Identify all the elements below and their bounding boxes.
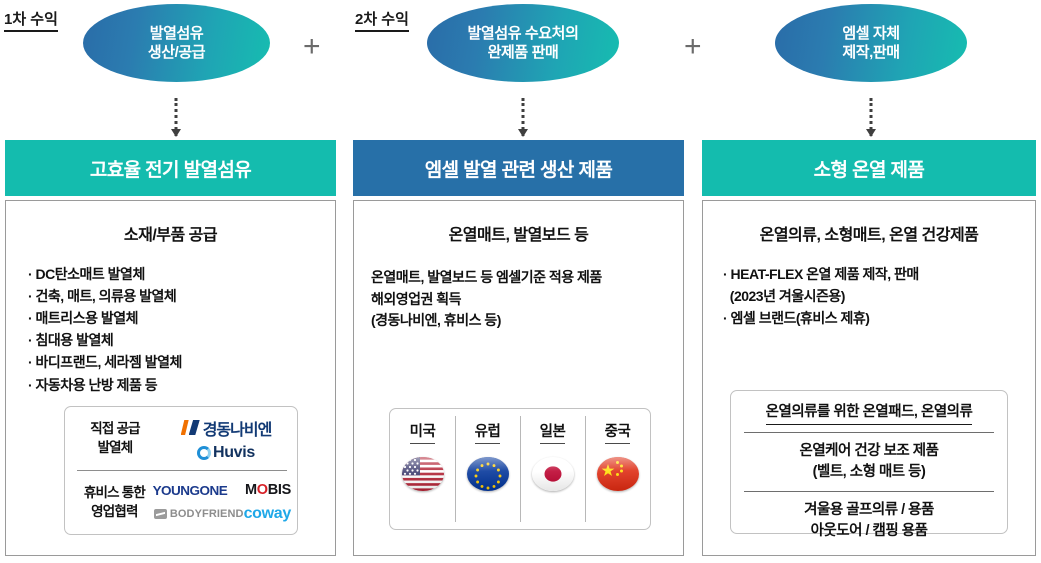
caption-line: 직접 공급 <box>75 420 155 439</box>
kyungdong-navien-mark-icon <box>181 420 200 435</box>
us-flag-icon <box>402 457 444 491</box>
bubble-2-line-1: 발열섬유 수요처의 <box>468 24 579 43</box>
category-section-apparel: 온열의류를 위한 온열패드, 온열의류 <box>731 391 1007 432</box>
partner-caption-huvis-collaboration: 휴비스 통한 영업협력 <box>75 484 154 521</box>
partner-logo-box: 직접 공급 발열체 경동나비엔 Huvis 휴비스 통한 영업협력 <box>64 406 298 535</box>
plus-separator-2: + <box>684 32 702 62</box>
jp-flag-icon <box>532 457 574 491</box>
bullet-item: · 건축, 매트, 의류용 발열체 <box>28 285 335 307</box>
market-cell-us: 미국 <box>390 409 455 529</box>
bullet-item: · 매트리스용 발열체 <box>28 307 335 329</box>
paragraph-line: (경동나비엔, 휴비스 등) <box>371 310 683 332</box>
brand-logo-coway: coway <box>244 505 291 523</box>
brand-label: Huvis <box>213 444 255 462</box>
bubble-primary-revenue: 발열섬유 생산/공급 <box>83 4 270 82</box>
plus-separator-1: + <box>303 32 321 62</box>
bullet-item: · 침대용 발열체 <box>28 329 335 351</box>
market-label-jp: 일본 <box>540 420 566 444</box>
eu-flag-icon <box>467 457 509 491</box>
bullet-list-small-thermal: · HEAT-FLEX 온열 제품 제작, 판매 (2023년 겨울시즌용) ·… <box>703 263 1035 329</box>
bubble-1-line-2: 생산/공급 <box>148 43 205 62</box>
bullet-item: · HEAT-FLEX 온열 제품 제작, 판매 <box>723 263 1035 285</box>
bullet-item: · 엠셀 브랜드(휴비스 제휴) <box>723 307 1035 329</box>
brand-logo-bodyfriend: BODYFRIEND <box>154 508 244 520</box>
category-section-healthcare: 온열케어 건강 보조 제품 (벨트, 소형 매트 등) <box>731 433 1007 491</box>
caption-line: 발열체 <box>75 439 155 458</box>
panel-title-mat-board: 온열매트, 발열보드 등 <box>354 221 683 245</box>
caption-line: 휴비스 통한 <box>75 484 154 503</box>
arrow-down-column-2 <box>517 98 529 136</box>
market-label-eu: 유럽 <box>475 420 501 444</box>
brand-logo-mobis: MOBIS <box>245 482 291 498</box>
diagram-canvas: 1차 수익 2차 수익 + + 발열섬유 생산/공급 발열섬유 수요처의 완제품… <box>0 0 1041 563</box>
category-section-outdoor: 겨울용 골프의류 / 용품 아웃도어 / 캠핑 용품 <box>731 492 1007 542</box>
market-cell-cn: 중국 <box>585 409 650 529</box>
bodyfriend-mark-icon <box>154 509 167 519</box>
cn-flag-icon <box>597 457 639 491</box>
brand-logo-kyungdong-navien: 경동나비엔 <box>155 416 297 440</box>
panel-title-materials-supply: 소재/부품 공급 <box>6 221 335 245</box>
partner-box-divider <box>77 470 287 471</box>
arrow-down-column-1 <box>170 98 182 136</box>
category-line: 겨울용 골프의류 / 용품 <box>731 500 1007 521</box>
panel-title-thermal-products: 온열의류, 소형매트, 온열 건강제품 <box>703 221 1035 245</box>
tier-label-primary: 1차 수익 <box>4 12 58 32</box>
paragraph-overseas-rights: 온열매트, 발열보드 등 엠셀기준 적용 제품 해외영업권 획득 (경동나비엔,… <box>354 267 683 332</box>
brand-logo-huvis: Huvis <box>155 444 297 462</box>
bubble-3-line-2: 제작,판매 <box>842 43 899 62</box>
column-header-small-thermal: 소형 온열 제품 <box>702 140 1036 196</box>
category-line: 아웃도어 / 캠핑 용품 <box>731 521 1007 542</box>
bubble-2-line-2: 완제품 판매 <box>468 43 579 62</box>
bubble-3-line-1: 엠셀 자체 <box>842 24 899 43</box>
paragraph-line: 해외영업권 획득 <box>371 289 683 311</box>
bubble-secondary-revenue: 발열섬유 수요처의 완제품 판매 <box>427 4 619 82</box>
paragraph-line: 온열매트, 발열보드 등 엠셀기준 적용 제품 <box>371 267 683 289</box>
category-line: 온열케어 건강 보조 제품 <box>731 441 1007 462</box>
brand-logo-youngone: YOUNGONE <box>152 483 227 498</box>
column-header-heating-fiber: 고효율 전기 발열섬유 <box>5 140 336 196</box>
market-label-cn: 중국 <box>605 420 631 444</box>
bullet-item: (2023년 겨울시즌용) <box>723 285 1035 307</box>
partner-row-huvis-collaboration: 휴비스 통한 영업협력 YOUNGONE MOBIS BODYFRIEND co… <box>65 470 297 535</box>
bubble-own-production: 엠셀 자체 제작,판매 <box>775 4 967 82</box>
market-label-us: 미국 <box>410 420 436 444</box>
bullet-item: · DC탄소매트 발열체 <box>28 263 335 285</box>
market-flag-box: 미국 <box>389 408 651 530</box>
bullet-item: · 자동차용 난방 제품 등 <box>28 374 335 396</box>
category-line: 온열의류를 위한 온열패드, 온열의류 <box>766 402 973 425</box>
market-cell-jp: 일본 <box>520 409 585 529</box>
partner-caption-direct-supply: 직접 공급 발열체 <box>75 420 155 457</box>
partner-row-direct-supply: 직접 공급 발열체 경동나비엔 Huvis <box>65 407 297 470</box>
bubble-1-line-1: 발열섬유 <box>148 24 205 43</box>
bullet-list-heating-fiber: · DC탄소매트 발열체 · 건축, 매트, 의류용 발열체 · 매트리스용 발… <box>6 263 335 396</box>
tier-label-secondary: 2차 수익 <box>355 12 409 32</box>
huvis-ring-icon <box>197 446 211 460</box>
caption-line: 영업협력 <box>75 503 154 522</box>
market-cell-eu: 유럽 <box>455 409 520 529</box>
brand-label: BODYFRIEND <box>170 508 244 520</box>
arrow-down-column-3 <box>865 98 877 136</box>
product-category-box: 온열의류를 위한 온열패드, 온열의류 온열케어 건강 보조 제품 (벨트, 소… <box>730 390 1008 534</box>
bullet-item: · 바디프랜드, 세라젬 발열체 <box>28 351 335 373</box>
category-line: (벨트, 소형 매트 등) <box>731 462 1007 483</box>
column-header-mcell-production: 엠셀 발열 관련 생산 제품 <box>353 140 684 196</box>
brand-label: 경동나비엔 <box>203 416 272 440</box>
